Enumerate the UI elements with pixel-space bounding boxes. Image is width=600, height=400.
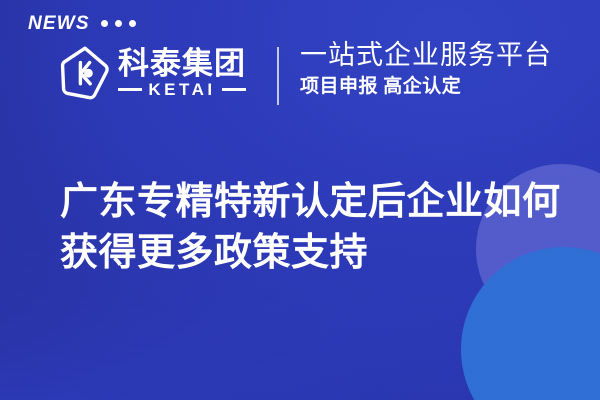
headline-text: 广东专精特新认定后企业如何获得更多政策支持 xyxy=(60,177,570,278)
tagline-sub: 项目申报 高企认定 xyxy=(300,75,552,99)
brand-divider xyxy=(277,47,279,105)
tagline-main: 一站式企业服务平台 xyxy=(300,40,552,72)
brand-wordmark: 科泰集团 KETAI xyxy=(118,48,246,98)
news-label: NEWS xyxy=(28,14,90,33)
ketai-diamond-kd-logo-icon xyxy=(58,44,112,102)
tagline-block: 一站式企业服务平台 项目申报 高企认定 xyxy=(300,40,552,99)
brand-name-en-row: KETAI xyxy=(118,81,246,98)
brand-lockup: 科泰集团 KETAI xyxy=(58,44,246,102)
brand-rule-left xyxy=(118,88,142,91)
brand-rule-right xyxy=(222,88,246,91)
brand-name-cn: 科泰集团 xyxy=(118,48,246,80)
eyebrow-dot xyxy=(129,20,136,27)
eyebrow-dots-icon xyxy=(101,20,136,27)
eyebrow-dot xyxy=(101,20,108,27)
news-banner: NEWS 科泰集团 KETAI xyxy=(0,0,600,400)
brand-name-en: KETAI xyxy=(148,81,215,98)
news-eyebrow: NEWS xyxy=(28,14,136,33)
eyebrow-dot xyxy=(115,20,122,27)
